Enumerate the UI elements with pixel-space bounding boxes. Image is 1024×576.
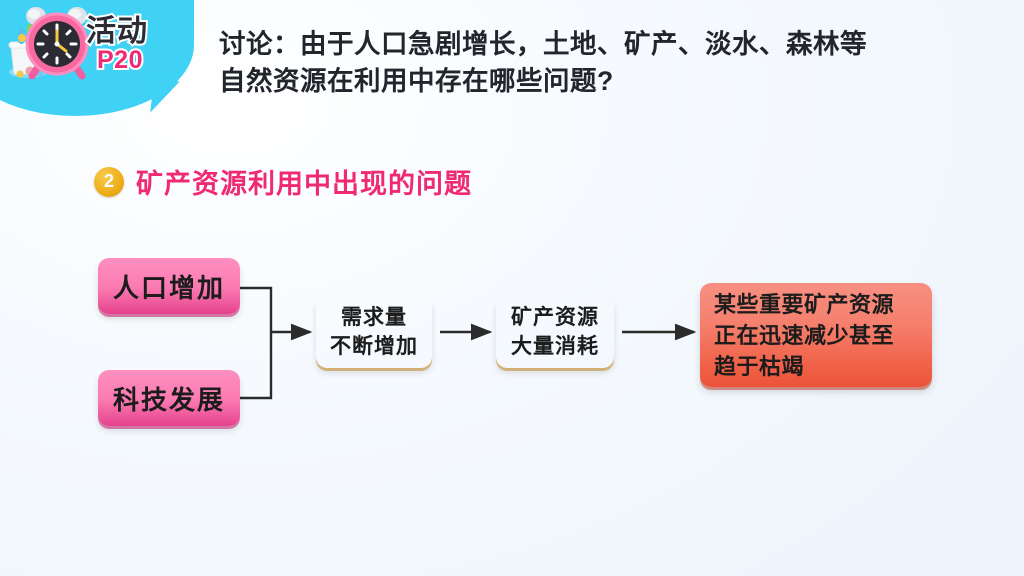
flow-node-label-line2: 正在迅速减少甚至 bbox=[714, 320, 894, 351]
flow-node-technology[interactable]: 科技发展 bbox=[98, 370, 240, 426]
flow-node-label-line3: 趋于枯竭 bbox=[714, 351, 894, 382]
flow-node-label-line1: 某些重要矿产资源 bbox=[714, 289, 894, 320]
flow-node-label: 人口增加 bbox=[113, 268, 225, 305]
flow-node-label-line1: 矿产资源 bbox=[511, 303, 599, 332]
flow-chart: 人口增加 科技发展 需求量 不断增加 矿产资源 大量消耗 某些重要矿产资源 正在… bbox=[0, 0, 1024, 576]
flow-node-label-line2: 大量消耗 bbox=[511, 332, 599, 361]
flow-node-label: 科技发展 bbox=[113, 380, 225, 417]
flow-node-label-line1: 需求量 bbox=[330, 303, 418, 332]
flow-node-demand[interactable]: 需求量 不断增加 bbox=[316, 296, 432, 368]
slide-canvas: 活动 P20 讨论：由于人口急剧增长，土地、矿产、淡水、森林等 自然资源在利用中… bbox=[0, 0, 1024, 576]
flow-node-population[interactable]: 人口增加 bbox=[98, 258, 240, 314]
flow-node-label-line2: 不断增加 bbox=[330, 332, 418, 361]
flow-node-depletion[interactable]: 某些重要矿产资源 正在迅速减少甚至 趋于枯竭 bbox=[700, 283, 932, 387]
flow-node-consumption[interactable]: 矿产资源 大量消耗 bbox=[496, 296, 614, 368]
